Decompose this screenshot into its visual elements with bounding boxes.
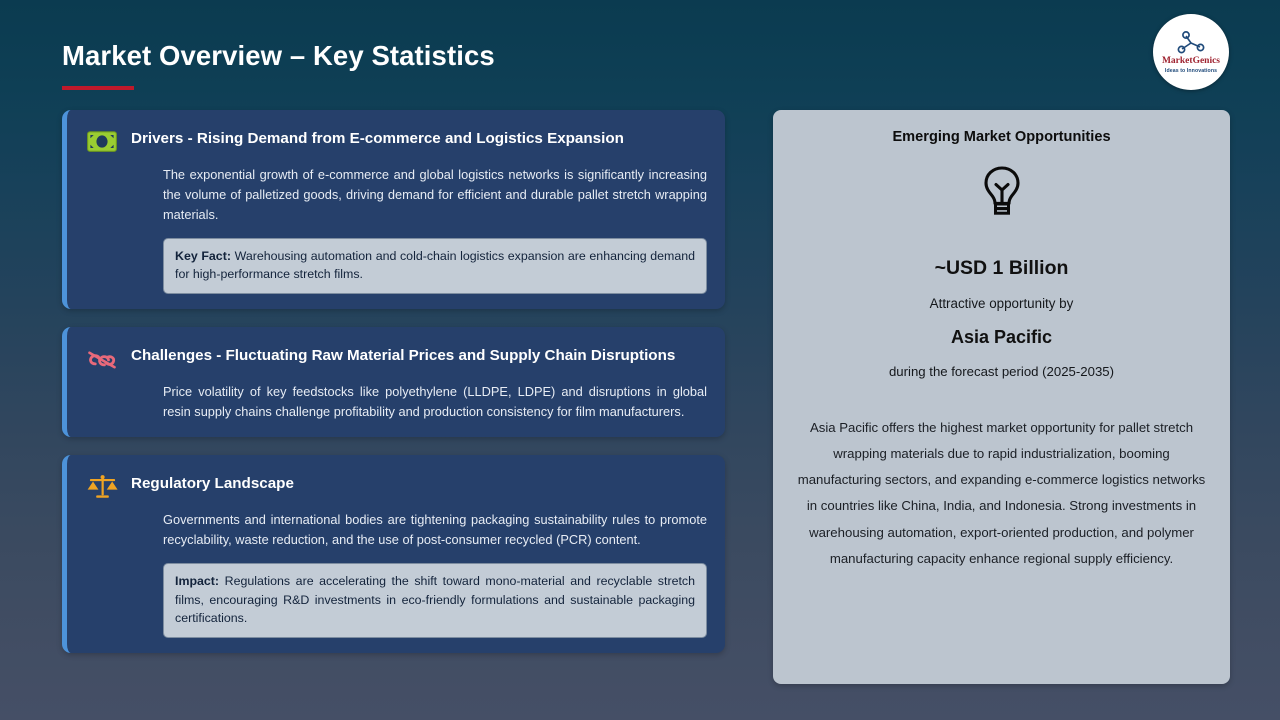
emerging-opportunities-panel: Emerging Market Opportunities ~USD 1 Bil… (773, 110, 1230, 684)
callout-text: Regulations are accelerating the shift t… (175, 574, 695, 625)
balance-scales-icon (85, 470, 119, 504)
opportunity-subtitle: Attractive opportunity by (787, 296, 1216, 311)
opportunity-region: Asia Pacific (787, 327, 1216, 348)
card-header: Regulatory Landscape (85, 469, 707, 504)
card-challenges: Challenges - Fluctuating Raw Material Pr… (62, 327, 725, 437)
impact-callout: Impact: Regulations are accelerating the… (163, 563, 707, 638)
card-body-text: Price volatility of key feedstocks like … (163, 382, 707, 422)
card-drivers: Drivers - Rising Demand from E-commerce … (62, 110, 725, 309)
card-body-text: The exponential growth of e-commerce and… (163, 165, 707, 225)
card-title: Drivers - Rising Demand from E-commerce … (131, 124, 707, 152)
callout-label: Key Fact: (175, 249, 231, 263)
lightbulb-icon (974, 163, 1030, 219)
opportunity-description: Asia Pacific offers the highest market o… (787, 415, 1216, 572)
callout-label: Impact: (175, 574, 219, 588)
card-title: Challenges - Fluctuating Raw Material Pr… (131, 341, 707, 369)
title-underline-accent (62, 86, 134, 90)
page-title: Market Overview – Key Statistics (62, 40, 495, 72)
money-banknote-icon (85, 125, 119, 159)
card-body-text: Governments and international bodies are… (163, 510, 707, 550)
card-title: Regulatory Landscape (131, 469, 707, 497)
card-regulatory: Regulatory Landscape Governments and int… (62, 455, 725, 653)
broken-chain-icon (85, 342, 119, 376)
network-nodes-icon (1176, 30, 1206, 56)
forecast-period: during the forecast period (2025-2035) (787, 364, 1216, 379)
logo-company-name: MarketGenics (1162, 57, 1220, 67)
card-header: Drivers - Rising Demand from E-commerce … (85, 124, 707, 159)
insight-card-list: Drivers - Rising Demand from E-commerce … (62, 110, 725, 671)
panel-title: Emerging Market Opportunities (787, 129, 1216, 145)
logo-tagline: Ideas to Innovations (1165, 68, 1217, 74)
card-header: Challenges - Fluctuating Raw Material Pr… (85, 341, 707, 376)
key-fact-callout: Key Fact: Warehousing automation and col… (163, 238, 707, 294)
callout-text: Warehousing automation and cold-chain lo… (175, 249, 695, 282)
opportunity-value: ~USD 1 Billion (787, 257, 1216, 280)
company-logo: MarketGenics Ideas to Innovations (1153, 14, 1229, 90)
